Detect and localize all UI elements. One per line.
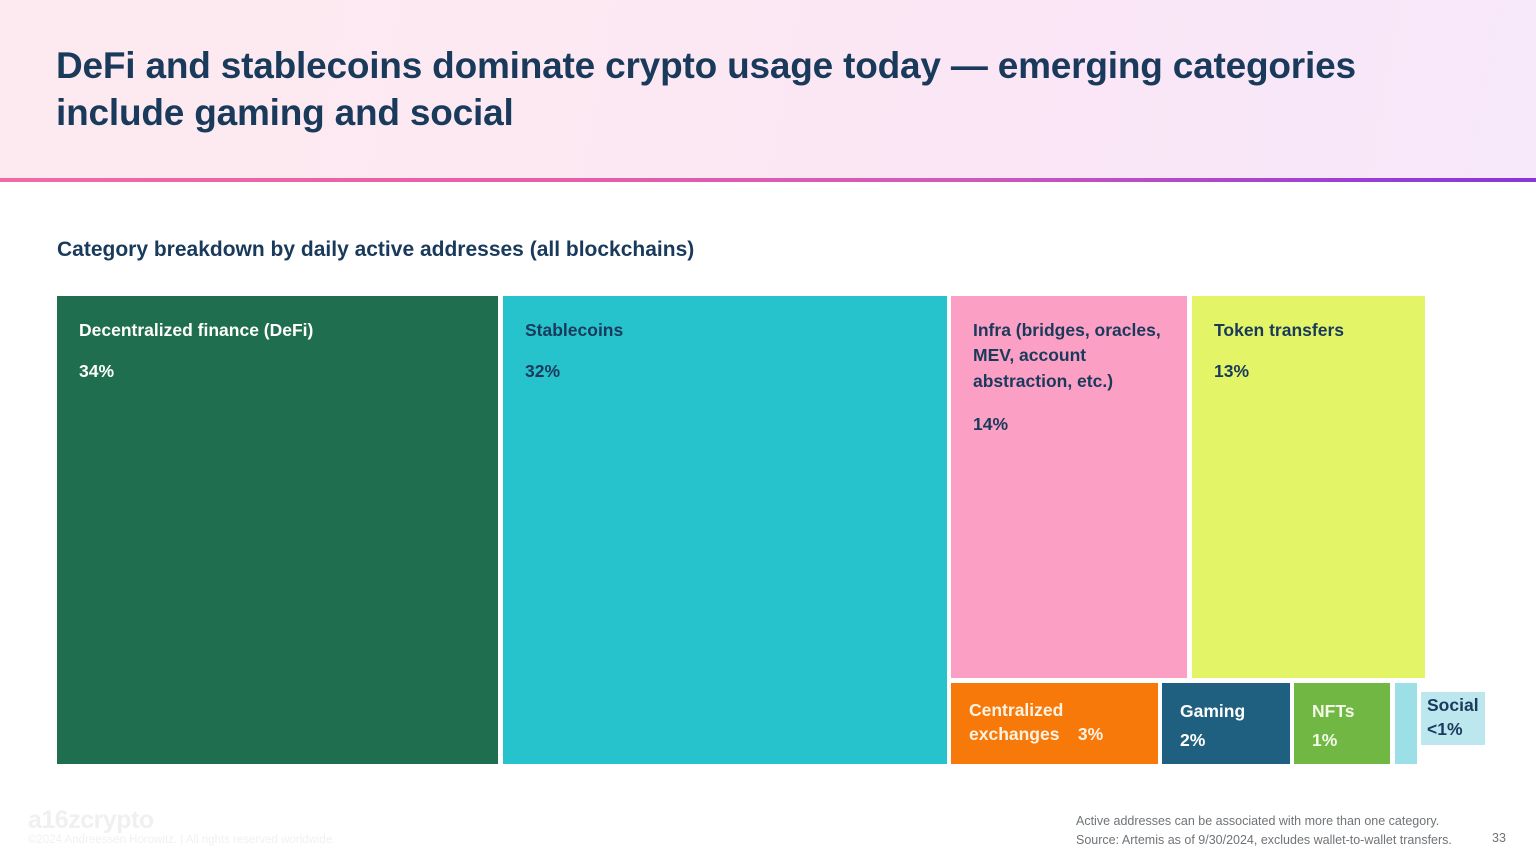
treemap-tile-infra[interactable]: Infra (bridges, oracles, MEV, account ab… <box>951 296 1187 678</box>
tile-value: 32% <box>525 359 925 384</box>
social-label-callout: Social <1% <box>1421 692 1485 745</box>
tile-label: Centralized exchanges <box>969 700 1063 744</box>
treemap-tile-stablecoins[interactable]: Stablecoins 32% <box>503 296 947 764</box>
tile-label: Gaming <box>1180 699 1276 724</box>
page-title: DeFi and stablecoins dominate crypto usa… <box>56 42 1456 137</box>
footnotes: Active addresses can be associated with … <box>1076 812 1452 851</box>
tile-value: 34% <box>79 359 476 384</box>
chart-subtitle: Category breakdown by daily active addre… <box>57 238 694 262</box>
treemap-tile-token-transfers[interactable]: Token transfers 13% <box>1192 296 1425 678</box>
footnote-line-1: Active addresses can be associated with … <box>1076 812 1452 831</box>
tile-label: Token transfers <box>1214 318 1403 343</box>
tile-label: Stablecoins <box>525 318 925 343</box>
tile-value: 2% <box>1180 728 1276 753</box>
footnote-line-2: Source: Artemis as of 9/30/2024, exclude… <box>1076 831 1452 850</box>
header-gradient-rule <box>0 178 1536 182</box>
a16zcrypto-logo: a16zcrypto <box>28 806 154 835</box>
copyright-text: ©2024 Andreessen Horowitz. | All rights … <box>28 834 335 846</box>
treemap-tile-gaming[interactable]: Gaming 2% <box>1162 683 1290 764</box>
tile-label: NFTs <box>1312 699 1376 724</box>
tile-label: Decentralized finance (DeFi) <box>79 318 476 343</box>
tile-value: <1% <box>1427 718 1479 742</box>
tile-value: 1% <box>1312 728 1376 753</box>
page-number: 33 <box>1492 831 1506 845</box>
tile-value: 3% <box>1078 724 1103 744</box>
tile-value: 13% <box>1214 359 1403 384</box>
treemap-tile-centralized-exchanges[interactable]: Centralized exchanges 3% <box>951 683 1158 764</box>
treemap-tile-social[interactable]: Social <1% <box>1395 683 1417 764</box>
tile-label: Social <box>1427 694 1479 718</box>
tile-label: Infra (bridges, oracles, MEV, account ab… <box>973 318 1165 394</box>
treemap-chart: Decentralized finance (DeFi) 34% Stablec… <box>57 296 1425 764</box>
treemap-tile-defi[interactable]: Decentralized finance (DeFi) 34% <box>57 296 498 764</box>
slide-header: DeFi and stablecoins dominate crypto usa… <box>0 0 1536 181</box>
tile-value: 14% <box>973 412 1165 437</box>
treemap-tile-nfts[interactable]: NFTs 1% <box>1294 683 1390 764</box>
